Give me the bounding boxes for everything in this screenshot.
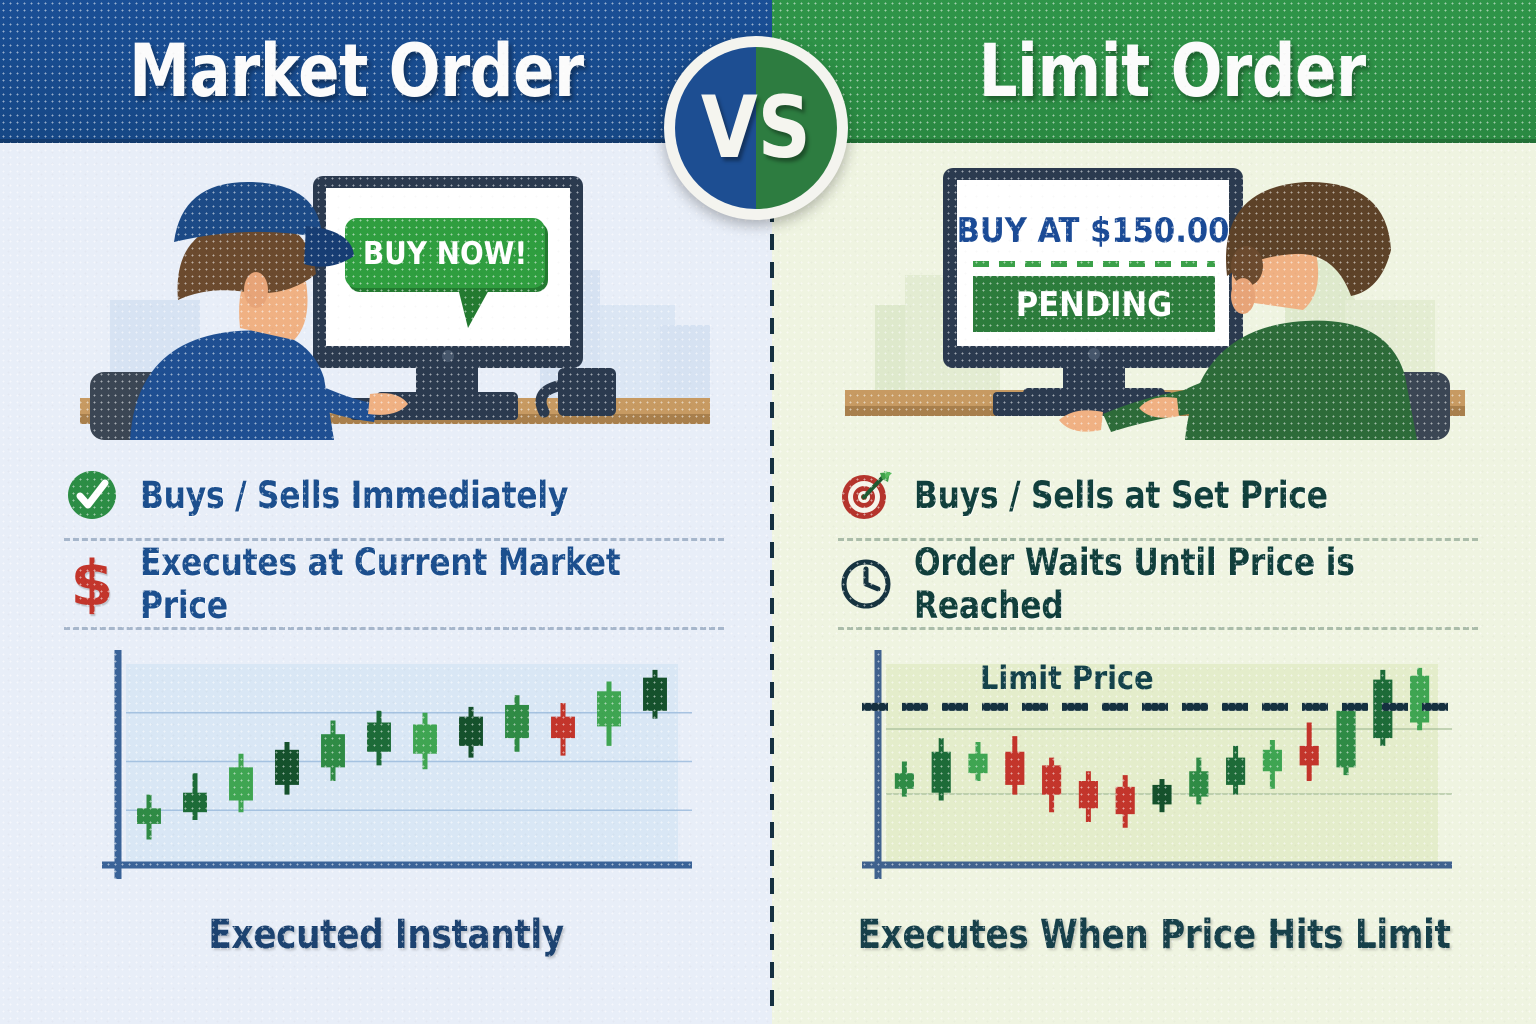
- right-caption: Executes When Price Hits Limit: [772, 906, 1536, 964]
- left-caption: Executed Instantly: [0, 906, 772, 964]
- dollar-sign-icon: $: [64, 556, 120, 612]
- candle-body: [1189, 771, 1208, 796]
- vs-label: VS: [701, 85, 811, 171]
- feature-label: Order Waits Until Price is Reached: [914, 541, 1444, 627]
- feature-row: Buys / Sells at Set Price: [838, 452, 1478, 538]
- plot-background: [126, 664, 678, 865]
- left-panel-title: Market Order: [129, 29, 584, 114]
- feature-row: Buys / Sells Immediately: [64, 452, 724, 538]
- candle-body: [229, 767, 253, 800]
- feature-divider: [838, 627, 1478, 630]
- candle-body: [275, 750, 299, 785]
- candle-body: [895, 773, 914, 789]
- candle-body: [968, 754, 987, 774]
- left-illustration: BUY NOW!: [70, 150, 710, 440]
- candle-body: [551, 717, 575, 738]
- candle: [1410, 668, 1429, 730]
- limit-price-label: Limit Price: [980, 659, 1154, 697]
- right-illustration: BUY AT $150.00 PENDING: [845, 150, 1465, 440]
- left-candlestick-chart: [100, 640, 700, 895]
- candle-body: [1336, 711, 1355, 768]
- candle-body: [1263, 750, 1282, 771]
- left-feature-list: Buys / Sells Immediately $ Executes at C…: [64, 452, 724, 630]
- candle-body: [1005, 752, 1024, 785]
- buy-now-label: BUY NOW!: [363, 236, 527, 272]
- right-panel-title: Limit Order: [978, 29, 1365, 114]
- pending-label: PENDING: [1016, 285, 1172, 325]
- candle-body: [321, 734, 345, 767]
- buy-at-price-label: BUY AT $150.00: [957, 211, 1230, 251]
- vs-badge: VS: [664, 36, 848, 220]
- candle-body: [1226, 758, 1245, 785]
- candle-body: [1300, 746, 1319, 766]
- clock-icon: [838, 556, 894, 612]
- feature-label: Executes at Current Market Price: [140, 541, 689, 627]
- feature-label: Buys / Sells Immediately: [140, 474, 568, 517]
- check-circle-icon: [64, 467, 120, 523]
- candle-body: [597, 691, 621, 726]
- candle-body: [1116, 787, 1135, 814]
- left-caption-label: Executed Instantly: [208, 912, 563, 958]
- candle-body: [1079, 781, 1098, 808]
- candle-body: [1152, 785, 1171, 805]
- candle-body: [183, 793, 207, 813]
- infographic-page: Market Order Limit Order VS: [0, 0, 1536, 1024]
- candle-body: [643, 678, 667, 711]
- vs-badge-inner: VS: [675, 47, 837, 209]
- feature-label: Buys / Sells at Set Price: [914, 474, 1328, 517]
- candle-body: [932, 752, 951, 793]
- right-caption-label: Executes When Price Hits Limit: [857, 912, 1450, 958]
- candle-body: [1410, 676, 1429, 723]
- right-candlestick-chart: Limit Price: [860, 640, 1460, 895]
- right-feature-list: Buys / Sells at Set Price Order Waits Un…: [838, 452, 1478, 630]
- candle-body: [1042, 765, 1061, 794]
- right-panel-header: Limit Order: [772, 0, 1536, 143]
- candle-body: [137, 808, 161, 824]
- candle-body: [413, 724, 437, 753]
- candle: [1336, 703, 1355, 775]
- feature-row: Order Waits Until Price is Reached: [838, 541, 1478, 627]
- candle-body: [367, 723, 391, 752]
- panel-divider: [770, 150, 774, 1010]
- target-dartboard-icon: [838, 467, 894, 523]
- feature-divider: [64, 627, 724, 630]
- feature-row: $ Executes at Current Market Price: [64, 541, 724, 627]
- candle-body: [505, 705, 529, 738]
- candle-body: [459, 717, 483, 746]
- left-panel-header: Market Order: [0, 0, 772, 143]
